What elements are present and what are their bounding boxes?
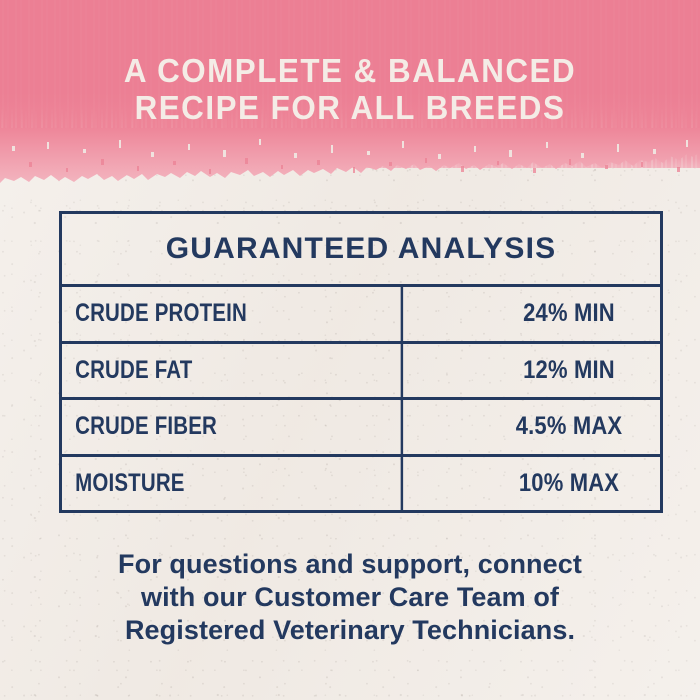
nutrient-label: CRUDE PROTEIN	[62, 287, 403, 341]
nutrient-value: 24% MIN	[489, 287, 649, 341]
nutrient-label: MOISTURE	[62, 457, 403, 511]
guaranteed-analysis-panel: A COMPLETE & BALANCED RECIPE FOR ALL BRE…	[0, 0, 700, 700]
table-row: MOISTURE 10% MAX	[62, 457, 660, 511]
table-title: GUARANTEED ANALYSIS	[62, 214, 660, 287]
nutrient-value: 4.5% MAX	[489, 400, 649, 454]
nutrient-label: CRUDE FIBER	[62, 400, 403, 454]
customer-care-message: For questions and support, connect with …	[50, 548, 650, 647]
nutrient-value: 12% MIN	[489, 344, 649, 398]
guaranteed-analysis-table: GUARANTEED ANALYSIS CRUDE PROTEIN 24% MI…	[59, 211, 663, 513]
table-body: CRUDE PROTEIN 24% MIN CRUDE FAT 12% MIN …	[62, 287, 660, 510]
table-row: CRUDE PROTEIN 24% MIN	[62, 287, 660, 344]
page-title: A COMPLETE & BALANCED RECIPE FOR ALL BRE…	[18, 52, 683, 126]
nutrient-value: 10% MAX	[489, 457, 649, 511]
table-row: CRUDE FAT 12% MIN	[62, 344, 660, 401]
table-row: CRUDE FIBER 4.5% MAX	[62, 400, 660, 457]
nutrient-label: CRUDE FAT	[62, 344, 403, 398]
